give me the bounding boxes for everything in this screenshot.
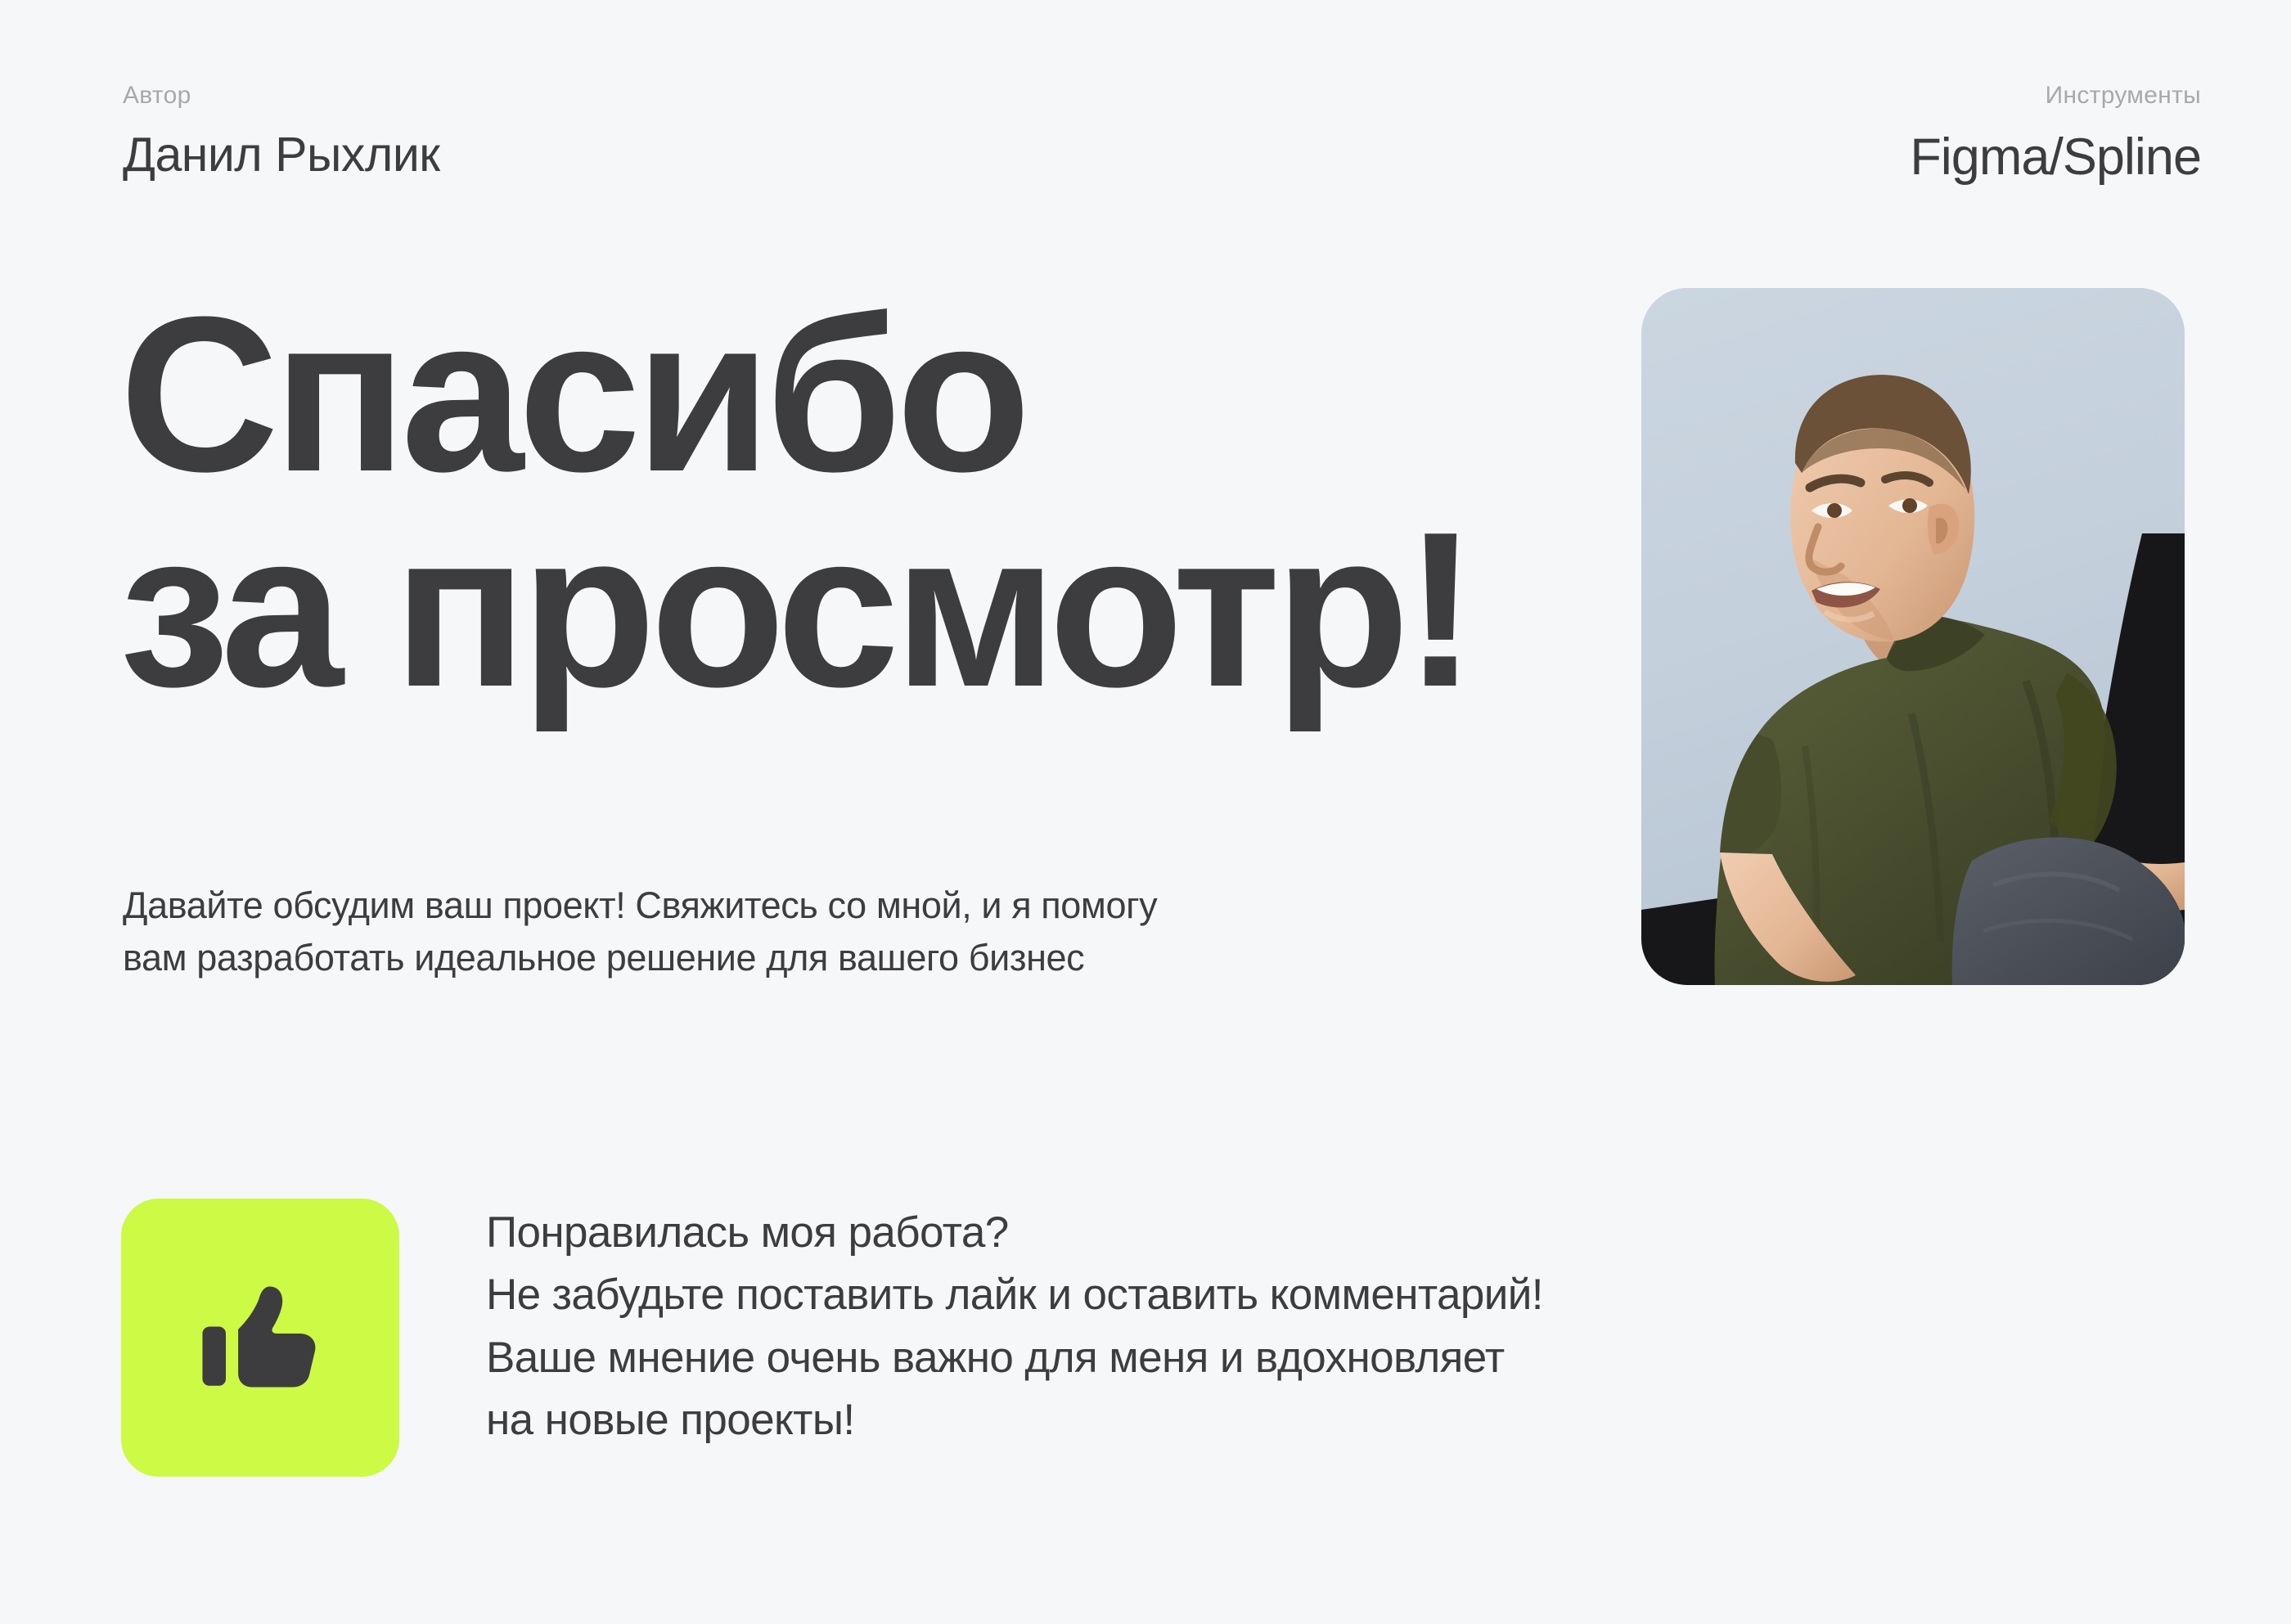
author-label: Автор bbox=[123, 82, 440, 109]
subtitle-text: Давайте обсудим ваш проект! Свяжитесь со… bbox=[123, 879, 1596, 984]
headline-line-1: Спасибо bbox=[119, 290, 1658, 501]
cta-line-3: Ваше мнение очень важно для меня и вдохн… bbox=[486, 1327, 1543, 1389]
cta-line-4: на новые проекты! bbox=[486, 1389, 1543, 1451]
cta-line-2: Не забудьте поставить лайк и оставить ко… bbox=[486, 1264, 1543, 1326]
feedback-cta: Понравилась моя работа? Не забудьте пост… bbox=[121, 1199, 1543, 1477]
author-name: Данил Рыхлик bbox=[123, 130, 440, 181]
slide-header: Автор Данил Рыхлик Инструменты Figma/Spl… bbox=[123, 82, 2201, 184]
page-title: Спасибо за просмотр! bbox=[119, 290, 1658, 715]
tools-label: Инструменты bbox=[2046, 82, 2201, 109]
author-block: Автор Данил Рыхлик bbox=[123, 82, 440, 181]
slide-root: Автор Данил Рыхлик Инструменты Figma/Spl… bbox=[0, 0, 2291, 1624]
subtitle-line-2: вам разработать идеальное решение для ва… bbox=[123, 932, 1596, 984]
tools-block: Инструменты Figma/Spline bbox=[1910, 82, 2201, 184]
subtitle-line-1: Давайте обсудим ваш проект! Свяжитесь со… bbox=[123, 879, 1596, 932]
author-photo bbox=[1641, 288, 2185, 985]
thumbs-up-icon bbox=[191, 1269, 329, 1406]
tools-value: Figma/Spline bbox=[1910, 130, 2201, 184]
feedback-text: Понравилась моя работа? Не забудьте пост… bbox=[486, 1199, 1543, 1451]
cta-line-1: Понравилась моя работа? bbox=[486, 1202, 1543, 1264]
like-tile[interactable] bbox=[121, 1199, 399, 1477]
headline-line-2: за просмотр! bbox=[119, 506, 1658, 716]
